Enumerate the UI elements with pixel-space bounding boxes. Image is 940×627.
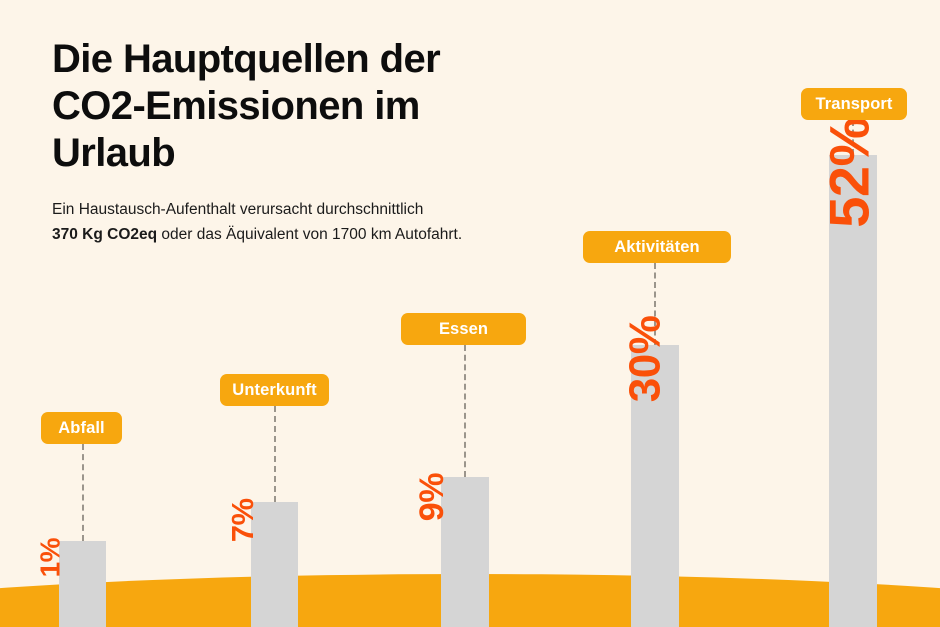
title-line-1: Die Hauptquellen der [52, 36, 672, 83]
category-badge-label: Abfall [58, 419, 104, 438]
badge-connector-line [82, 444, 84, 541]
category-badge-label: Transport [816, 95, 893, 114]
subtitle-line-2: 370 Kg CO2eq oder das Äquivalent von 170… [52, 222, 612, 247]
subtitle: Ein Haustausch-Aufenthalt verursacht dur… [52, 197, 612, 247]
title-line-2: CO2-Emissionen im [52, 83, 672, 130]
badge-connector-line [274, 406, 276, 502]
bar-abfall[interactable] [59, 541, 106, 627]
infographic-canvas: Die Hauptquellen der CO2-Emissionen im U… [0, 0, 940, 627]
category-badge-abfall[interactable]: Abfall [41, 412, 122, 444]
subtitle-line-1: Ein Haustausch-Aufenthalt verursacht dur… [52, 197, 612, 222]
bar-percent-label: 52% [822, 117, 878, 228]
page-title: Die Hauptquellen der CO2-Emissionen im U… [52, 36, 672, 177]
category-badge-unterkunft[interactable]: Unterkunft [220, 374, 329, 406]
bar-percent-label: 7% [227, 498, 258, 542]
bar-percent-label: 30% [624, 316, 668, 403]
bar-percent-label: 9% [415, 473, 449, 521]
bar-percent-label: 1% [36, 538, 64, 577]
badge-connector-line [464, 345, 466, 477]
category-badge-transport[interactable]: Transport [801, 88, 907, 120]
category-badge-label: Unterkunft [232, 381, 316, 400]
category-badge-essen[interactable]: Essen [401, 313, 526, 345]
category-badge-label: Essen [439, 320, 488, 339]
title-line-3: Urlaub [52, 130, 672, 177]
subtitle-emphasis: 370 Kg CO2eq [52, 226, 157, 243]
header-block: Die Hauptquellen der CO2-Emissionen im U… [52, 36, 672, 247]
subtitle-rest: oder das Äquivalent von 1700 km Autofahr… [157, 226, 462, 243]
